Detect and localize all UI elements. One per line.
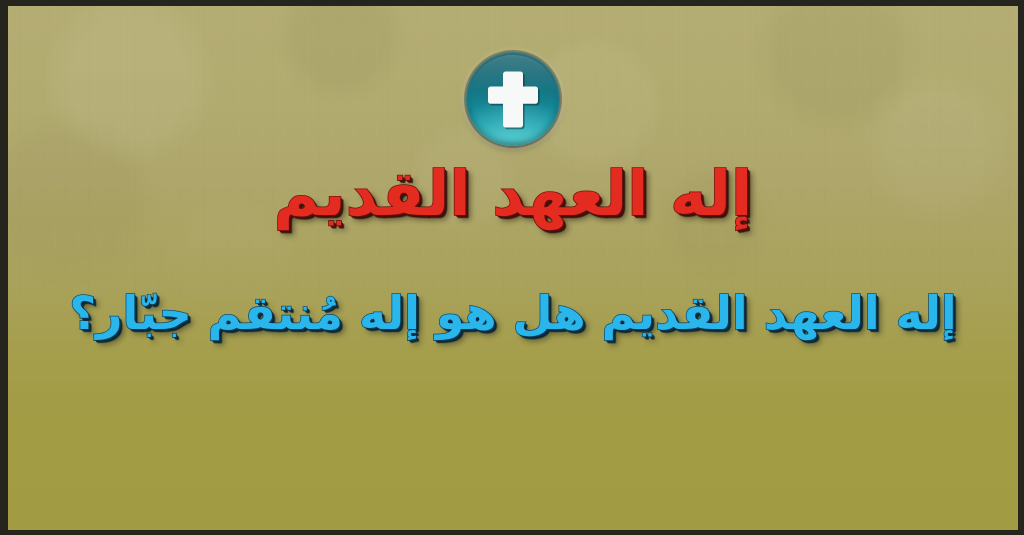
page-subtitle-text: إله العهد القديم هل هو إله مُنتقم جبّار؟ bbox=[69, 284, 956, 344]
page-title-text: إله العهد القديم bbox=[274, 154, 752, 233]
banner-canvas: إله العهد القديم إله العهد القديم هل هو … bbox=[8, 6, 1018, 530]
cross-icon bbox=[466, 52, 560, 146]
emblem-container bbox=[8, 52, 1018, 146]
page-title: إله العهد القديم bbox=[8, 154, 1018, 233]
cross-emblem-badge bbox=[466, 52, 560, 146]
banner-graphic: إله العهد القديم إله العهد القديم هل هو … bbox=[0, 0, 1024, 535]
page-subtitle: إله العهد القديم هل هو إله مُنتقم جبّار؟ bbox=[8, 284, 1018, 344]
